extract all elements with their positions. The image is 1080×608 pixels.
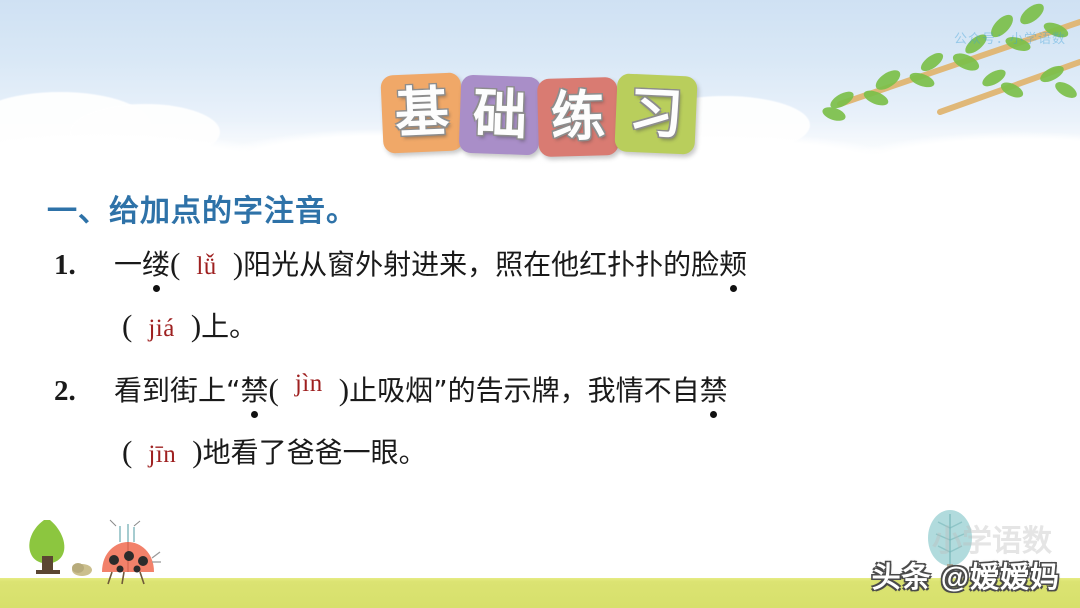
open-paren: ( — [122, 310, 132, 341]
slide-canvas: 公众号：小学语数 基 础 练 习 一、给加点的字注音。 1. 一 缕 ( lǚ … — [0, 0, 1080, 608]
open-paren: ( — [170, 248, 180, 279]
sentence-text: 一 — [114, 251, 142, 279]
question-number: 1. — [54, 251, 114, 280]
title-tile-3: 练 — [537, 77, 619, 157]
pinyin-answer[interactable]: lǚ — [180, 254, 232, 279]
title-tile-4: 习 — [614, 73, 697, 154]
emphasized-char: 缕 — [142, 251, 170, 279]
sentence-text: 阳光从窗外射进来，照在他红扑扑的脸 — [243, 251, 719, 279]
emphasized-char: 禁 — [700, 377, 728, 405]
title-tile-char: 基 — [394, 85, 450, 141]
exercise-line: ( jīn ) 地看了爸爸一眼。 — [54, 436, 1044, 496]
watermark-top-right: 公众号：小学语数 — [954, 28, 1066, 47]
title-tile-char: 练 — [550, 89, 605, 144]
ladybug-icon — [102, 520, 161, 584]
close-paren: ) — [191, 310, 201, 341]
slide-title: 基 础 练 习 — [382, 74, 694, 156]
title-tile-1: 基 — [380, 72, 463, 153]
exercise-list: 1. 一 缕 ( lǚ ) 阳光从窗外射进来，照在他红扑扑的脸 颊 ( jiá … — [54, 248, 1044, 496]
question-number: 2. — [54, 377, 114, 406]
exercise-line: 1. 一 缕 ( lǚ ) 阳光从窗外射进来，照在他红扑扑的脸 颊 — [54, 248, 1044, 310]
title-tile-char: 习 — [628, 86, 684, 142]
watermark-bottom-right: 头条 @嫒嫒妈 — [872, 554, 1060, 596]
emphasized-char: 颊 — [719, 251, 747, 279]
close-paren: ) — [339, 374, 349, 405]
pinyin-answer[interactable]: jīn — [132, 442, 192, 467]
title-tile-char: 础 — [472, 87, 528, 143]
emphasized-char: 禁 — [241, 377, 269, 405]
section-heading: 一、给加点的字注音。 — [47, 186, 357, 230]
sentence-text: 上。 — [201, 313, 257, 341]
exercise-line: 2. 看到街上“ 禁 ( jìn ) 止吸烟”的告示牌，我情不自 禁 — [54, 374, 1044, 436]
open-paren: ( — [122, 436, 132, 467]
close-paren: ) — [192, 436, 202, 467]
bush-icon — [72, 563, 92, 576]
pinyin-answer[interactable]: jìn — [279, 371, 339, 396]
sentence-text: 看到街上“ — [114, 377, 241, 405]
sentence-text: 止吸烟”的告示牌，我情不自 — [349, 377, 700, 405]
title-tile-2: 础 — [459, 75, 542, 156]
open-paren: ( — [269, 374, 279, 405]
exercise-line: ( jiá ) 上。 — [54, 310, 1044, 374]
pinyin-answer[interactable]: jiá — [132, 316, 191, 341]
tree-icon — [29, 520, 64, 574]
close-paren: ) — [233, 248, 243, 279]
sentence-text: 地看了爸爸一眼。 — [203, 439, 427, 467]
